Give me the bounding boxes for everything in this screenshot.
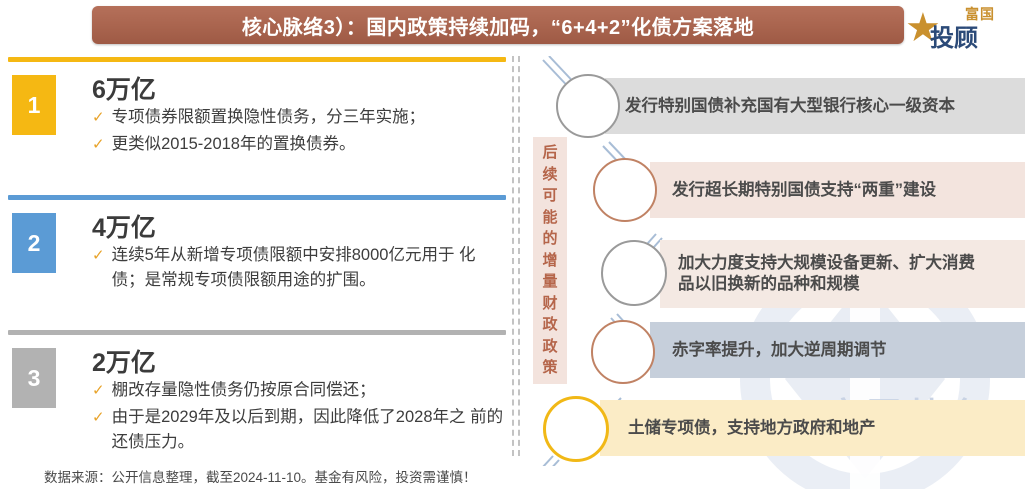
bullet-item: ✓ 更类似2015-2018年的置换债券。 <box>92 132 502 157</box>
slide-root: 富国基金 核心脉络3）：国内政策持续加码，“6+4+2”化债方案落地 ★ 富国 … <box>0 0 1025 489</box>
check-icon: ✓ <box>92 378 105 403</box>
policy-row-3[interactable]: 加大力度支持大规模设备更新、扩大消费 品以旧换新的品种和规模 <box>660 240 1025 308</box>
item-rule-2 <box>8 195 506 200</box>
vertical-label-char: 可 <box>542 185 557 207</box>
item-number-3: 3 <box>28 365 41 392</box>
bullet-text: 更类似2015-2018年的置换债券。 <box>112 132 356 157</box>
item-badge-2: 2 <box>12 213 56 273</box>
item-bullets-2: ✓ 连续5年从新增专项债限额中安排8000亿元用于 化债；是常规专项债限额用途的… <box>92 243 504 295</box>
policy-node-circle-1[interactable] <box>556 74 620 138</box>
vertical-label-text: 后续可能的增量财政政策 <box>542 142 557 379</box>
item-amount-1: 6万亿 <box>92 70 156 106</box>
bullet-item: ✓ 专项债券限额置换隐性债务，分三年实施； <box>92 105 502 130</box>
bullet-item: ✓ 连续5年从新增专项债限额中安排8000亿元用于 化债；是常规专项债限额用途的… <box>92 243 504 293</box>
item-badge-1: 1 <box>12 75 56 135</box>
check-icon: ✓ <box>92 132 105 157</box>
panel-divider-secondary <box>518 56 520 456</box>
bullet-text: 由于是2029年及以后到期，因此降低了2028年之 前的还债压力。 <box>112 405 507 455</box>
policy-row-1-label: 发行特别国债补充国有大型银行核心一级资本 <box>625 96 955 117</box>
vertical-label-char: 策 <box>542 357 557 379</box>
item-amount-3: 2万亿 <box>92 343 156 379</box>
logo-bottom-text: 投顾 <box>930 18 978 53</box>
panel-divider <box>512 56 514 456</box>
vertical-label-char: 续 <box>542 164 557 186</box>
item-rule-3 <box>8 330 506 335</box>
policy-row-3-label: 加大力度支持大规模设备更新、扩大消费 品以旧换新的品种和规模 <box>678 253 975 295</box>
policy-node-circle-2[interactable] <box>593 158 657 222</box>
bullet-item: ✓ 棚改存量隐性债务仍按原合同偿还； <box>92 378 507 403</box>
item-number-2: 2 <box>28 230 41 257</box>
item-number-1: 1 <box>28 92 41 119</box>
vertical-label-strip: 后续可能的增量财政政策 <box>533 137 567 384</box>
vertical-label-char: 量 <box>542 271 557 293</box>
footer-source: 数据来源：公开信息整理，截至2024-11-10。基金有风险，投资需谨慎！ <box>44 466 477 486</box>
check-icon: ✓ <box>92 243 105 268</box>
policy-node-circle-4[interactable] <box>591 320 655 384</box>
policy-node-circle-3[interactable] <box>601 240 667 306</box>
bullet-text: 连续5年从新增专项债限额中安排8000亿元用于 化债；是常规专项债限额用途的扩围… <box>112 243 504 293</box>
item-amount-2: 4万亿 <box>92 208 156 244</box>
brand-logo: ★ 富国 投顾 <box>905 2 1023 50</box>
item-bullets-1: ✓ 专项债券限额置换隐性债务，分三年实施； ✓ 更类似2015-2018年的置换… <box>92 105 502 159</box>
bullet-item: ✓ 由于是2029年及以后到期，因此降低了2028年之 前的还债压力。 <box>92 405 507 455</box>
item-bullets-3: ✓ 棚改存量隐性债务仍按原合同偿还； ✓ 由于是2029年及以后到期，因此降低了… <box>92 378 507 457</box>
policy-row-5-label: 土储专项债，支持地方政府和地产 <box>628 418 876 439</box>
vertical-label-char: 增 <box>542 250 557 272</box>
policy-node-circle-5[interactable] <box>543 396 609 462</box>
policy-row-4[interactable]: 赤字率提升，加大逆周期调节 <box>650 322 1025 378</box>
vertical-label-char: 的 <box>542 228 557 250</box>
vertical-label-char: 政 <box>542 314 557 336</box>
item-rule-1 <box>8 57 506 62</box>
vertical-label-char: 能 <box>542 207 557 229</box>
vertical-label-char: 后 <box>542 142 557 164</box>
policy-row-2-label: 发行超长期特别国债支持“两重”建设 <box>672 180 936 201</box>
vertical-label-char: 财 <box>542 293 557 315</box>
bullet-text: 棚改存量隐性债务仍按原合同偿还； <box>112 378 376 403</box>
policy-row-2[interactable]: 发行超长期特别国债支持“两重”建设 <box>650 162 1025 218</box>
bullet-text: 专项债券限额置换隐性债务，分三年实施； <box>112 105 426 130</box>
policy-row-4-label: 赤字率提升，加大逆周期调节 <box>672 340 887 361</box>
check-icon: ✓ <box>92 405 105 430</box>
check-icon: ✓ <box>92 105 105 130</box>
vertical-label-char: 政 <box>542 336 557 358</box>
policy-row-1[interactable]: 发行特别国债补充国有大型银行核心一级资本 <box>605 78 1025 134</box>
title-banner: 核心脉络3）：国内政策持续加码，“6+4+2”化债方案落地 <box>92 6 904 44</box>
page-title: 核心脉络3）：国内政策持续加码，“6+4+2”化债方案落地 <box>92 6 904 44</box>
item-badge-3: 3 <box>12 348 56 408</box>
policy-row-5[interactable]: 土储专项债，支持地方政府和地产 <box>600 400 1025 456</box>
